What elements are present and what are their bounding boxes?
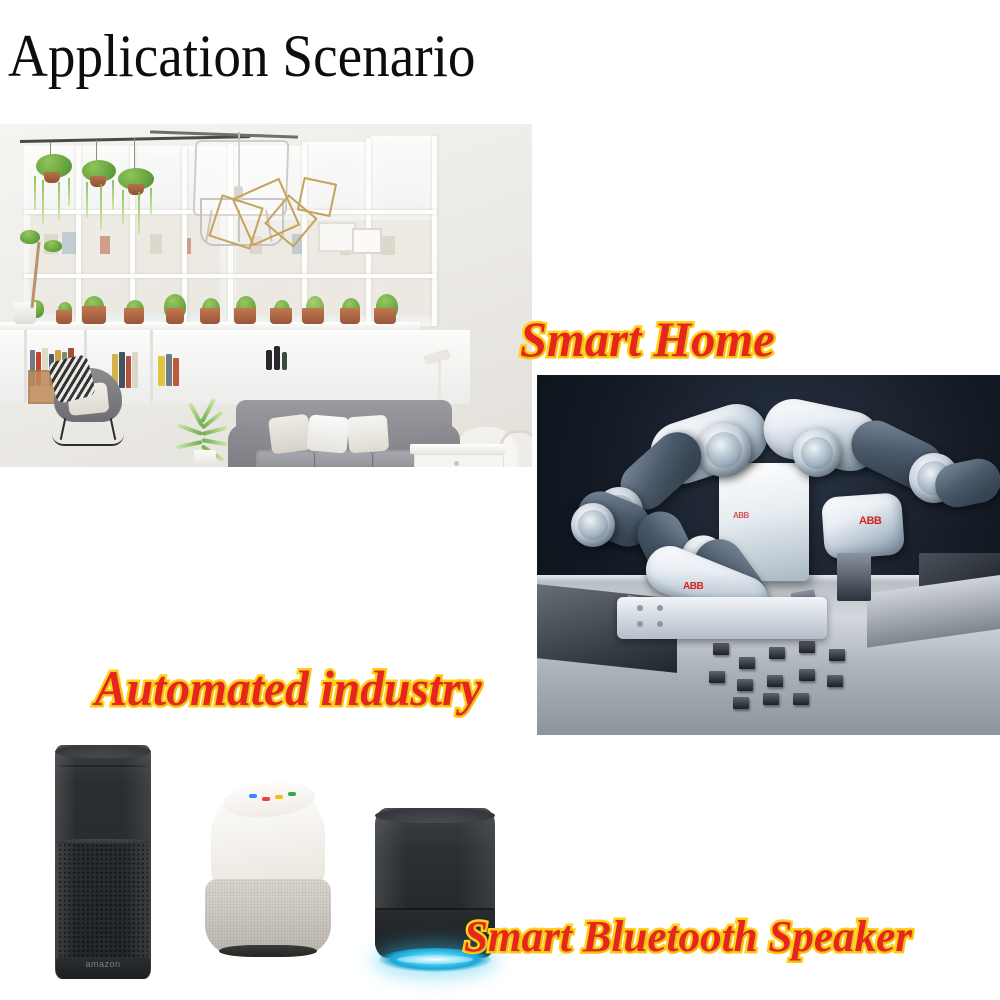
decor-bottle	[266, 350, 272, 370]
plant-pot	[234, 308, 256, 324]
side-table-top	[410, 444, 506, 454]
assembly-part	[769, 647, 785, 659]
throw-pillow	[268, 414, 312, 455]
plant-pot	[340, 308, 360, 324]
plant-vine	[122, 190, 124, 224]
book	[173, 358, 179, 386]
side-table-drawer	[414, 454, 504, 467]
window-mullion	[24, 274, 436, 278]
hanging-plant-pot	[128, 184, 144, 195]
speaker-foot	[219, 945, 317, 957]
plant-vine	[86, 182, 88, 218]
book	[166, 354, 172, 386]
caption-automated-industry: Automated industry	[95, 663, 482, 713]
outside-window	[150, 234, 162, 254]
plant-pot	[302, 308, 324, 324]
robot-joint	[697, 423, 751, 477]
indoor-tree-foliage	[20, 230, 40, 244]
decor-bottle	[274, 346, 280, 370]
robot-joint	[793, 429, 841, 477]
abb-logo: ABB	[859, 515, 881, 527]
plant-vine	[68, 178, 70, 206]
sofa-cushion	[258, 452, 315, 467]
throw-pillow	[347, 415, 389, 454]
caption-smart-home: Smart Home	[520, 314, 775, 364]
throw-pillow	[307, 414, 350, 453]
gold-geometric-decor	[297, 177, 337, 217]
book	[132, 352, 138, 388]
plant-vine	[100, 184, 102, 230]
plant-pot	[82, 306, 106, 324]
assembly-part	[709, 671, 725, 683]
speaker-seam	[376, 908, 494, 910]
speaker-fabric-base	[205, 879, 331, 955]
robot-gripper-right	[837, 553, 871, 601]
speaker-seam	[57, 765, 149, 767]
led-indicator-red	[262, 797, 270, 801]
assembly-part	[739, 657, 755, 669]
indoor-tree-foliage	[44, 240, 62, 252]
page-title: Application Scenario	[8, 26, 476, 86]
led-glow-core	[397, 955, 473, 964]
led-indicator-yellow	[275, 795, 283, 799]
picture-frame	[318, 222, 356, 252]
speaker-mesh-grille	[58, 843, 148, 971]
drawer-knob	[454, 461, 459, 466]
google-home-speaker	[205, 783, 331, 965]
automated-industry-robot-photo: ABB ABB ABB	[537, 375, 1000, 735]
led-indicator-blue	[249, 794, 257, 798]
assembly-part	[737, 679, 753, 691]
outside-window	[100, 236, 110, 254]
chair-rocker	[52, 434, 124, 446]
bolt	[657, 621, 663, 627]
fern-plant	[178, 416, 230, 467]
outside-window	[382, 236, 395, 255]
side-table	[410, 444, 506, 467]
window-mullion	[432, 136, 437, 326]
assembly-part	[767, 675, 783, 687]
assembly-part	[799, 641, 815, 653]
fern-pot	[194, 450, 216, 467]
robot-base-plate	[617, 597, 827, 639]
sofa-cushion	[316, 452, 373, 467]
amazon-echo-speaker: amazon	[55, 745, 151, 985]
assembly-part	[733, 697, 749, 709]
bolt	[637, 621, 643, 627]
plant-vine	[138, 192, 140, 234]
picture-frame	[352, 228, 382, 254]
decor-bottle	[282, 352, 287, 370]
smart-home-living-room-photo	[0, 124, 532, 467]
assembly-part	[763, 693, 779, 705]
led-indicator-green	[288, 792, 296, 796]
abb-logo: ABB	[733, 511, 749, 520]
rocking-chair	[50, 368, 128, 446]
plant-pot	[124, 308, 144, 324]
robot-wrist-left	[571, 503, 615, 547]
shelf-divider	[150, 330, 153, 402]
speaker-top-ring	[55, 745, 151, 758]
bolt	[657, 605, 663, 611]
plant-vine	[42, 180, 44, 224]
plant-pot	[56, 310, 72, 324]
hanging-plant-pot	[90, 176, 106, 187]
plant-pot	[270, 308, 292, 324]
assembly-part	[713, 643, 729, 655]
shelf-divider	[24, 330, 27, 402]
book	[158, 356, 165, 386]
plant-vine	[150, 188, 152, 214]
assembly-part	[793, 693, 809, 705]
fern-frond	[176, 440, 202, 449]
caption-smart-bluetooth-speaker: Smart Bluetooth Speaker	[464, 915, 912, 959]
plant-pot	[200, 308, 220, 324]
plant-vine	[112, 180, 114, 210]
plant-pot	[166, 308, 184, 324]
assembly-part	[827, 675, 843, 687]
plant-vine	[58, 182, 60, 220]
plant-pot	[374, 308, 396, 324]
bolt	[637, 605, 643, 611]
fabric-texture	[205, 879, 331, 955]
assembly-part	[799, 669, 815, 681]
assembly-part	[829, 649, 845, 661]
abb-logo: ABB	[683, 581, 703, 592]
amazon-brand-label: amazon	[55, 959, 151, 969]
window-mullion	[76, 146, 81, 326]
plant-vine	[34, 176, 36, 210]
speaker-top-ring	[375, 808, 495, 823]
